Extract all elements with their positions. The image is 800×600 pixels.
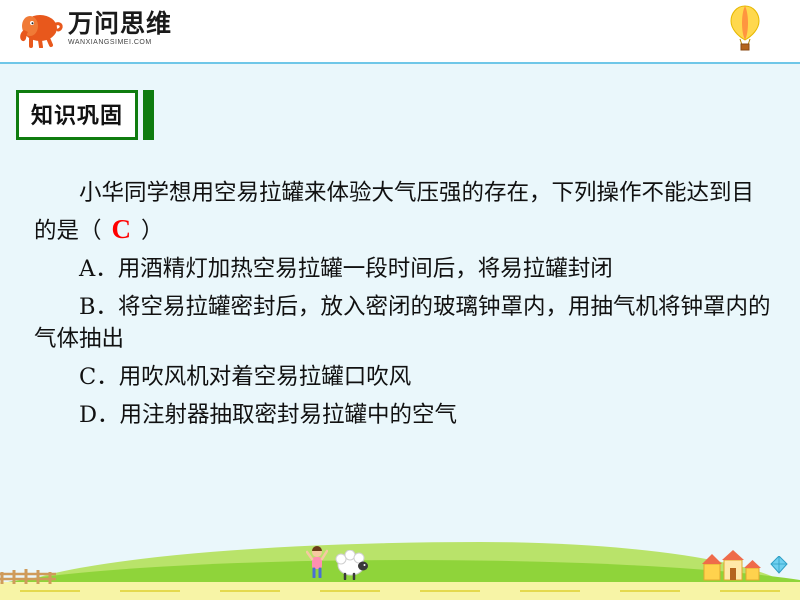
option-a: A．用酒精灯加热空易拉罐一段时间后，将易拉罐封闭: [34, 254, 774, 286]
page-title-box: 知识巩固: [16, 90, 138, 140]
question-content: 小华同学想用空易拉罐来体验大气压强的存在，下列操作不能达到目的是（C） A．用酒…: [34, 178, 774, 438]
logo-title: 万问思维: [68, 11, 172, 36]
road-dash: [20, 590, 80, 592]
child-icon: [306, 546, 328, 578]
logo-text: 万问思维 WANXIANGSIMEI.COM: [68, 11, 172, 46]
answer-mark: C: [102, 214, 142, 244]
fence-icon: [0, 566, 120, 584]
page-title: 知识巩固: [16, 90, 154, 140]
scenery: [0, 528, 800, 600]
title-accent-bar: [143, 90, 154, 140]
page-title-label: 知识巩固: [31, 98, 123, 130]
hot-air-balloon-icon: [728, 4, 762, 56]
sheep-icon: [334, 550, 370, 580]
road-dash: [320, 590, 380, 592]
question-stem-after: ）: [141, 218, 164, 244]
slide: 万问思维 WANXIANGSIMEI.COM 知识巩固 小华同学想用空易拉罐来体…: [0, 0, 800, 600]
option-d: D．用注射器抽取密封易拉罐中的空气: [34, 400, 774, 432]
elephant-icon: [18, 8, 64, 48]
road-dash: [620, 590, 680, 592]
option-c: C．用吹风机对着空易拉罐口吹风: [34, 362, 774, 394]
house-icon: [700, 548, 762, 582]
header-bar: 万问思维 WANXIANGSIMEI.COM: [0, 0, 800, 64]
option-b: B．将空易拉罐密封后，放入密闭的玻璃钟罩内，用抽气机将钟罩内的气体抽出: [34, 292, 774, 356]
kite-icon: [770, 556, 788, 574]
road-dash: [120, 590, 180, 592]
road-dash: [420, 590, 480, 592]
road-dash: [520, 590, 580, 592]
road-dash: [720, 590, 780, 592]
logo: 万问思维 WANXIANGSIMEI.COM: [18, 8, 172, 48]
logo-subtitle: WANXIANGSIMEI.COM: [68, 39, 172, 46]
question-stem: 小华同学想用空易拉罐来体验大气压强的存在，下列操作不能达到目的是（C）: [34, 178, 774, 248]
road-dash: [220, 590, 280, 592]
